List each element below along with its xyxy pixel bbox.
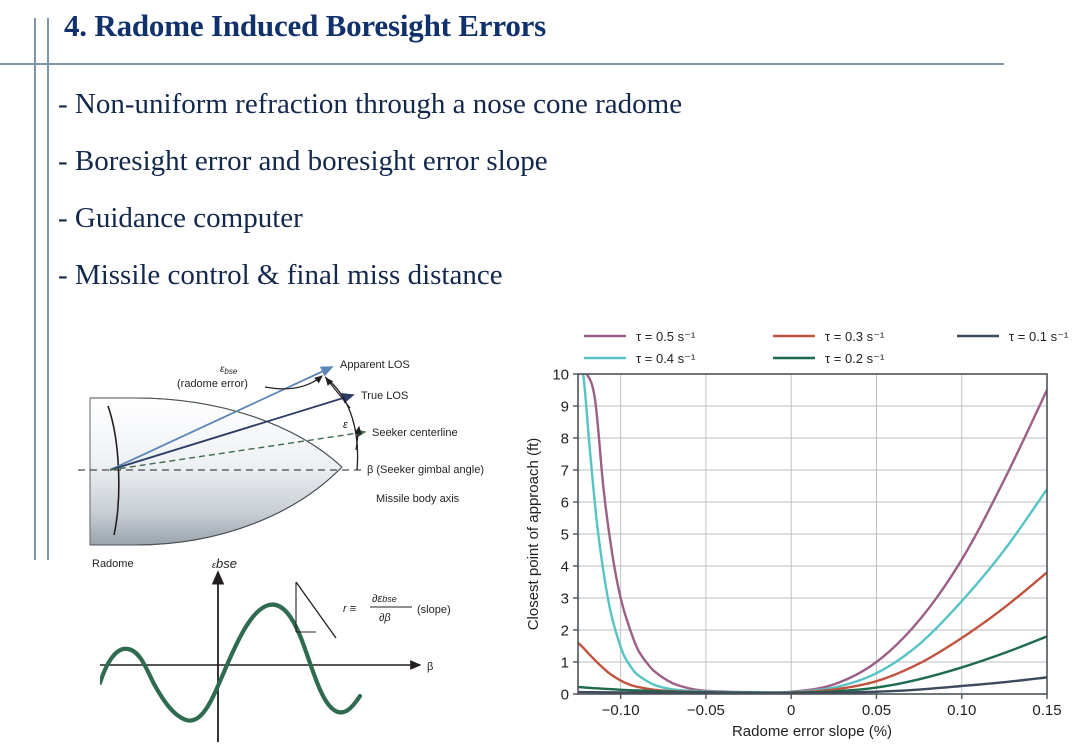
slope-triangle [296,582,336,638]
slope-formula-denominator: ∂β [379,612,391,624]
chart-y-tick-label: 10 [552,367,569,384]
chart-y-tick-label: 6 [561,495,569,512]
bullet-item: - Boresight error and boresight error sl… [58,147,878,176]
chart-svg: τ = 0.5 s⁻¹τ = 0.4 s⁻¹τ = 0.3 s⁻¹τ = 0.2… [520,318,1078,742]
chart-y-tick-label: 7 [561,463,569,480]
radome-geometry-diagram: εbse (radome error) Apparent LOS True LO… [60,330,520,580]
slide-title-divider [0,63,1004,65]
bse-slope-svg: εbse β r ≡ ∂εbse ∂β (slope) [100,550,530,742]
chart-y-tick-label: 2 [561,623,569,640]
chart-x-tick-label: 0.05 [862,702,891,719]
legend-label: τ = 0.4 s⁻¹ [636,351,696,366]
slope-formula-note: (slope) [417,604,451,616]
true-los-label: True LOS [361,390,408,402]
chart-x-tick-label: −0.10 [602,702,640,719]
legend-label: τ = 0.5 s⁻¹ [636,329,696,344]
slide-accent-rule-outer [34,18,36,560]
chart-y-tick-label: 8 [561,431,569,448]
chart-series-group [578,368,1047,693]
bse-curve [100,605,360,721]
bse-leader-line [265,376,322,389]
slope-formula-r: r ≡ [343,603,356,615]
angle-arrow-up [326,378,350,408]
legend-label: τ = 0.2 s⁻¹ [825,351,885,366]
chart-y-tick-label: 5 [561,527,569,544]
epsilon-label: ε [343,419,348,431]
slope-formula: r ≡ ∂εbse ∂β (slope) [343,593,451,624]
chart-y-tick-label: 3 [561,591,569,608]
slope-formula-numerator: ∂εbse [372,593,397,605]
chart-series-line [578,372,1047,692]
bse-symbol-label: εbse [220,364,238,376]
legend-label: τ = 0.3 s⁻¹ [825,329,885,344]
beta-gimbal-label: β (Seeker gimbal angle) [367,464,484,476]
chart-y-tick-label: 9 [561,399,569,416]
bullet-item: - Guidance computer [58,204,878,233]
bse-note-label: (radome error) [177,378,248,390]
chart-tick-labels: 012345678910−0.10−0.0500.050.100.15 [552,367,1061,720]
apparent-los-label: Apparent LOS [340,359,410,371]
chart-series-line [578,572,1047,692]
chart-y-axis-title: Closest point of approach (ft) [525,438,542,631]
page-title: 4. Radome Induced Boresight Errors [64,8,546,44]
bullet-item: - Missile control & final miss distance [58,261,878,290]
chart-x-tick-label: 0 [787,702,795,719]
bse-y-axis-label: εbse [212,556,237,571]
chart-y-tick-label: 4 [561,559,569,576]
chart-y-tick-label: 1 [561,655,569,672]
slide-accent-rule-inner [47,18,49,560]
bullet-list: - Non-uniform refraction through a nose … [58,90,878,318]
seeker-centerline-label: Seeker centerline [372,427,458,439]
chart-x-tick-label: −0.05 [687,702,725,719]
radome-diagram-svg: εbse (radome error) Apparent LOS True LO… [60,330,520,580]
legend-label: τ = 0.1 s⁻¹ [1009,329,1069,344]
bse-x-axis-label: β [427,661,433,673]
chart-x-tick-label: 0.10 [947,702,976,719]
chart-y-tick-label: 0 [561,687,569,704]
angle-arc [325,377,358,470]
chart-series-line [578,368,1047,692]
closest-point-of-approach-chart: τ = 0.5 s⁻¹τ = 0.4 s⁻¹τ = 0.3 s⁻¹τ = 0.2… [520,318,1078,742]
chart-x-axis-title: Radome error slope (%) [732,723,892,740]
bse-slope-diagram: εbse β r ≡ ∂εbse ∂β (slope) [100,550,530,742]
bullet-item: - Non-uniform refraction through a nose … [58,90,878,119]
chart-x-tick-label: 0.15 [1032,702,1061,719]
chart-legend: τ = 0.5 s⁻¹τ = 0.4 s⁻¹τ = 0.3 s⁻¹τ = 0.2… [584,329,1069,366]
missile-body-axis-label: Missile body axis [376,493,460,505]
